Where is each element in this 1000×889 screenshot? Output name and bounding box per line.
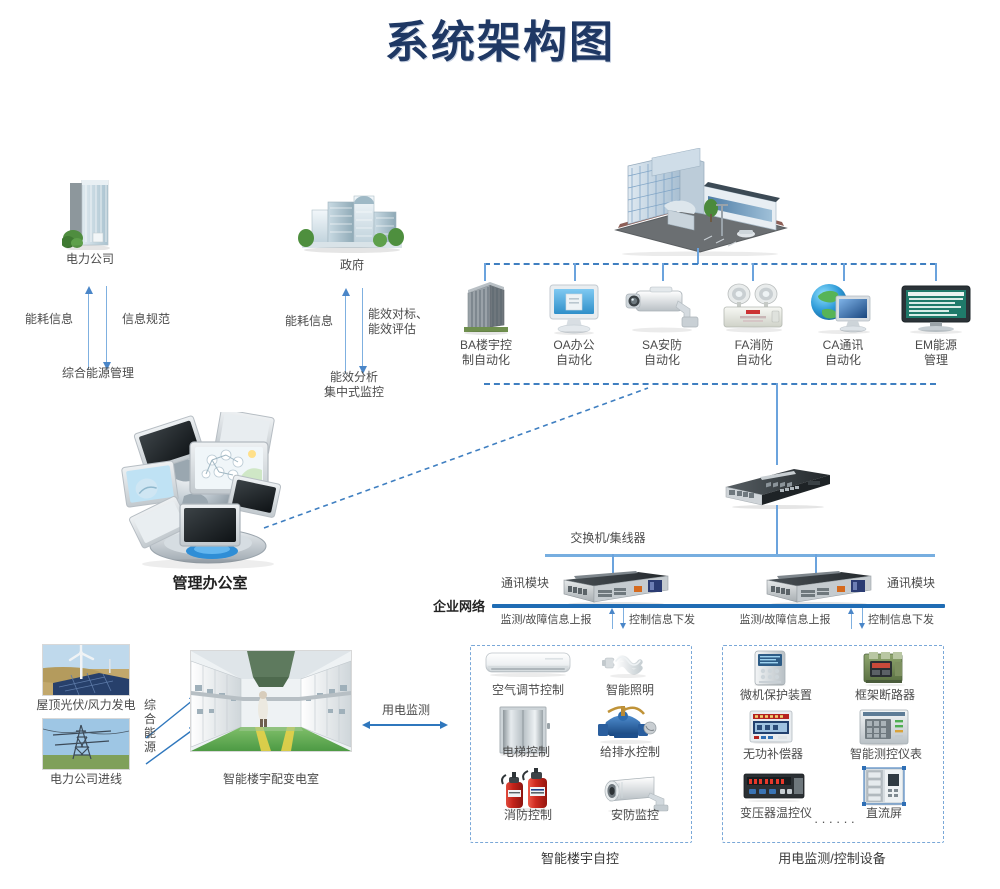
flow-down-arrowhead-1 — [859, 623, 865, 629]
switch-to-bus-connector — [776, 383, 778, 465]
comm-module-icon-0 — [560, 570, 672, 606]
multi-screen-globe-icon — [120, 412, 300, 572]
power-monitor-arrowhead-left — [362, 721, 370, 729]
power-monitor-arrowhead-right — [440, 721, 448, 729]
government-label: 政府 — [292, 258, 412, 273]
energy-dashboard-icon — [900, 284, 972, 334]
energy-source-label-1: 电力公司进线 — [22, 772, 150, 787]
subsystem-bus-top — [484, 263, 936, 265]
substation-label: 智能楼宇配变电室 — [196, 772, 346, 787]
flow-up-label-0: 监测/故障信息上报 — [487, 613, 605, 628]
air-circuit-breaker-icon — [860, 650, 910, 686]
diagram-canvas: 系统架构图 — [0, 0, 1000, 889]
emergency-light-icon — [718, 282, 790, 334]
subsystem-label-3: FA消防 自动化 — [714, 338, 794, 368]
device-label-0-5: 安防监控 — [595, 808, 675, 823]
glass-office-building-icon — [608, 148, 790, 256]
power-monitor-label: 用电监测 — [364, 703, 448, 718]
water-valve-icon — [594, 700, 662, 748]
office-to-bus-diagonal — [250, 380, 660, 540]
power-company-bottom-label: 综合能源管理 — [25, 366, 171, 381]
device-label-1-3: 智能测控仪表 — [840, 747, 932, 762]
subsystem-label-0: BA楼宇控 制自动化 — [446, 338, 526, 368]
transformer-temp-controller-icon — [742, 772, 808, 802]
device-label-0-1: 智能照明 — [590, 683, 670, 698]
government-up-label: 能耗信息 — [278, 314, 340, 329]
subsystem-drop-5 — [935, 263, 937, 281]
subsystem-label-4: CA通讯 自动化 — [803, 338, 883, 368]
reactive-compensator-icon — [748, 710, 794, 744]
cctv-camera-icon — [620, 285, 704, 333]
building-automation-caption: 智能楼宇自控 — [470, 848, 690, 867]
network-switch-icon — [722, 465, 832, 509]
power-monitor-line — [368, 724, 442, 726]
flow-up-arrowhead-0 — [609, 608, 615, 614]
comm-module-label-0: 通讯模块 — [492, 576, 558, 591]
government-up-arrowhead — [342, 288, 350, 296]
management-office-label: 管理办公室 — [130, 572, 290, 593]
flow-up-line-0 — [612, 612, 613, 629]
power-company-label: 电力公司 — [30, 252, 150, 267]
fire-extinguisher-icon — [498, 768, 558, 812]
substation-corridor-photo — [190, 650, 352, 752]
energy-source-label-0: 屋顶光伏/风力发电 — [22, 698, 150, 713]
subsystem-label-1: OA办公 自动化 — [534, 338, 614, 368]
device-label-1-2: 无功补偿器 — [730, 747, 816, 762]
power-company-up-arrowhead — [85, 286, 93, 294]
power-company-up-label: 能耗信息 — [18, 312, 80, 327]
transmission-tower-photo — [42, 718, 130, 770]
comm-module-bus — [545, 554, 935, 557]
subsystem-drop-3 — [752, 263, 754, 281]
switch-to-module-bus-connector — [776, 505, 778, 555]
power-company-down-line — [106, 286, 107, 368]
device-label-0-0: 空气调节控制 — [482, 683, 574, 698]
power-company-down-label: 信息规范 — [112, 312, 180, 327]
subsystem-drop-1 — [574, 263, 576, 281]
device-label-0-3: 给排水控制 — [586, 745, 674, 760]
government-down-line — [362, 288, 363, 372]
government-building-icon — [296, 192, 408, 254]
subsystem-drop-4 — [843, 263, 845, 281]
office-tower-icon — [62, 180, 118, 250]
page-title: 系统架构图 — [0, 6, 1000, 70]
comm-module-icon-1 — [763, 570, 875, 606]
device-label-1-1: 框架断路器 — [842, 688, 928, 703]
flow-down-arrowhead-0 — [620, 623, 626, 629]
flow-down-label-1: 控制信息下发 — [868, 613, 960, 628]
device-label-0-2: 电梯控制 — [486, 745, 566, 760]
switch-label: 交换机/集线器 — [528, 531, 688, 546]
power-company-up-line — [88, 290, 89, 370]
flow-up-line-1 — [851, 612, 852, 629]
subsystem-drop-0 — [484, 263, 486, 281]
subsystem-label-5: EM能源 管理 — [896, 338, 976, 368]
smart-meter-icon — [858, 708, 910, 746]
protection-relay-icon — [749, 650, 791, 686]
building-to-bus-connector — [697, 248, 699, 264]
group-ellipsis-dots: ······ — [814, 814, 858, 829]
air-conditioner-icon — [485, 650, 571, 680]
subsystem-label-2: SA安防 自动化 — [622, 338, 702, 368]
enterprise-network-label: 企业网络 — [433, 596, 485, 615]
government-down-label: 能效对标、 能效评估 — [368, 307, 440, 337]
subsystem-drop-2 — [662, 263, 664, 281]
flow-down-label-0: 控制信息下发 — [629, 613, 721, 628]
cfl-bulb-icon — [600, 648, 650, 682]
solar-wind-photo — [42, 644, 130, 696]
desktop-monitor-icon — [546, 283, 602, 335]
government-up-line — [345, 292, 346, 374]
flow-up-arrowhead-1 — [848, 608, 854, 614]
energy-merge-label: 综合能源 — [142, 698, 158, 754]
power-monitoring-caption: 用电监测/控制设备 — [722, 848, 942, 867]
device-label-1-0: 微机保护装置 — [730, 688, 822, 703]
flow-up-label-1: 监测/故障信息上报 — [726, 613, 844, 628]
device-label-1-4: 变压器温控仪 — [730, 806, 822, 821]
comm-module-label-1: 通讯模块 — [878, 576, 944, 591]
highrise-icon — [460, 281, 512, 335]
globe-monitor-icon — [808, 282, 874, 334]
enterprise-network-bar — [492, 604, 945, 608]
dc-power-cabinet-icon — [862, 766, 906, 806]
device-label-0-4: 消防控制 — [488, 808, 568, 823]
